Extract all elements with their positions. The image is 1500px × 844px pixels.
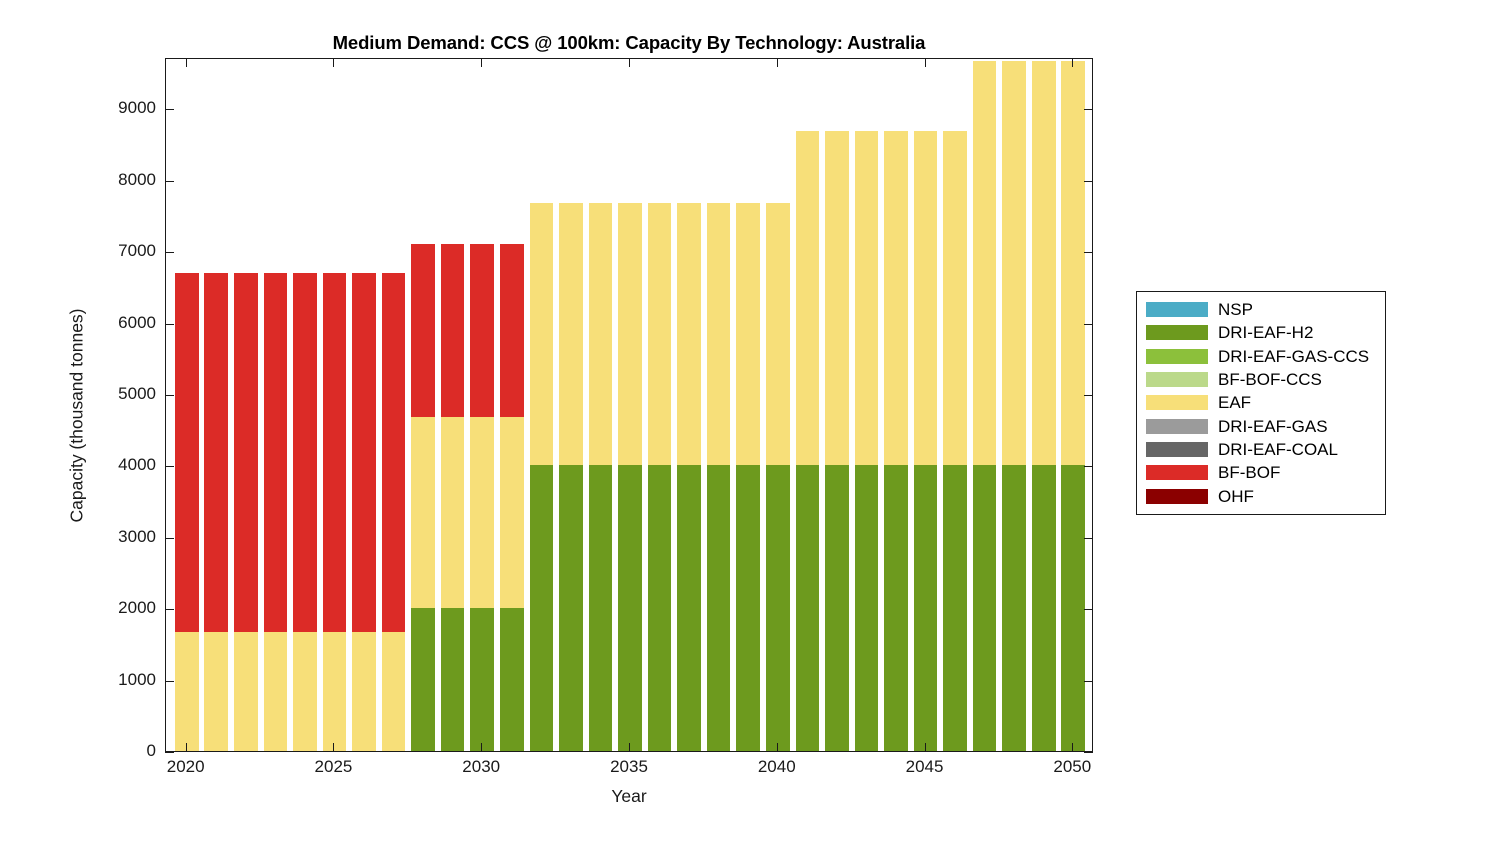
bar-segment-dri-eaf-h2[interactable]: [884, 465, 908, 751]
y-axis-tick: [165, 681, 174, 682]
x-axis-tick-top: [186, 58, 187, 67]
y-axis-tick: [165, 252, 174, 253]
bar-2050[interactable]: [1061, 59, 1085, 751]
bar-segment-dri-eaf-h2[interactable]: [973, 465, 997, 751]
bar-segment-eaf[interactable]: [973, 61, 997, 466]
y-axis-label: 8000: [56, 170, 156, 190]
legend-item-dri-eaf-gas[interactable]: DRI-EAF-GAS: [1137, 414, 1385, 437]
bar-segment-dri-eaf-h2[interactable]: [914, 465, 938, 751]
bar-segment-eaf[interactable]: [1032, 61, 1056, 466]
legend-swatch-icon: [1146, 325, 1208, 340]
bar-segment-dri-eaf-h2[interactable]: [441, 608, 465, 751]
legend-swatch-icon: [1146, 302, 1208, 317]
legend-swatch-icon: [1146, 372, 1208, 387]
bar-2020[interactable]: [175, 59, 199, 751]
bar-segment-bf-bof[interactable]: [323, 273, 347, 632]
bar-2045[interactable]: [914, 59, 938, 751]
x-axis-tick-top: [925, 58, 926, 67]
bar-segment-bf-bof[interactable]: [382, 273, 406, 632]
bar-segment-bf-bof[interactable]: [264, 273, 288, 632]
bar-2033[interactable]: [559, 59, 583, 751]
x-axis-label: 2025: [288, 757, 378, 777]
y-axis-tick-right: [1084, 181, 1093, 182]
bar-segment-dri-eaf-h2[interactable]: [943, 465, 967, 751]
bar-2042[interactable]: [825, 59, 849, 751]
bar-2027[interactable]: [382, 59, 406, 751]
legend-item-bf-bof-ccs[interactable]: BF-BOF-CCS: [1137, 368, 1385, 391]
bar-segment-dri-eaf-h2[interactable]: [559, 465, 583, 751]
bar-2026[interactable]: [352, 59, 376, 751]
bar-2025[interactable]: [323, 59, 347, 751]
legend-label: DRI-EAF-GAS: [1218, 418, 1328, 435]
bar-segment-eaf[interactable]: [589, 203, 613, 465]
y-axis-tick-right: [1084, 466, 1093, 467]
legend-label: DRI-EAF-COAL: [1218, 441, 1338, 458]
bar-2031[interactable]: [500, 59, 524, 751]
bar-segment-dri-eaf-h2[interactable]: [707, 465, 731, 751]
x-axis-tick-top: [1072, 58, 1073, 67]
bar-segment-eaf[interactable]: [411, 417, 435, 608]
bar-segment-eaf[interactable]: [500, 417, 524, 608]
bar-segment-dri-eaf-h2[interactable]: [736, 465, 760, 751]
legend-item-dri-eaf-coal[interactable]: DRI-EAF-COAL: [1137, 438, 1385, 461]
x-axis-tick-top: [629, 58, 630, 67]
legend-label: EAF: [1218, 394, 1251, 411]
bar-segment-dri-eaf-h2[interactable]: [589, 465, 613, 751]
bar-2035[interactable]: [618, 59, 642, 751]
bar-segment-eaf[interactable]: [293, 632, 317, 751]
y-axis-label: 9000: [56, 98, 156, 118]
bar-segment-eaf[interactable]: [618, 203, 642, 465]
bar-2049[interactable]: [1032, 59, 1056, 751]
bar-segment-eaf[interactable]: [382, 632, 406, 751]
y-axis-tick-right: [1084, 395, 1093, 396]
bar-segment-eaf[interactable]: [943, 131, 967, 464]
x-axis-tick-top: [777, 58, 778, 67]
bar-segment-eaf[interactable]: [825, 131, 849, 464]
bar-segment-eaf[interactable]: [1061, 61, 1085, 466]
x-axis-tick: [629, 743, 630, 752]
bar-segment-eaf[interactable]: [796, 131, 820, 464]
bar-segment-bf-bof[interactable]: [470, 244, 494, 417]
bar-segment-dri-eaf-h2[interactable]: [530, 465, 554, 751]
bar-2047[interactable]: [973, 59, 997, 751]
y-axis-tick: [165, 181, 174, 182]
x-axis-tick: [1072, 743, 1073, 752]
bar-2030[interactable]: [470, 59, 494, 751]
bar-2022[interactable]: [234, 59, 258, 751]
plot-box: [165, 58, 1093, 752]
bar-segment-dri-eaf-h2[interactable]: [648, 465, 672, 751]
y-axis-label: 2000: [56, 598, 156, 618]
legend-item-dri-eaf-gas-ccs[interactable]: DRI-EAF-GAS-CCS: [1137, 345, 1385, 368]
x-axis-label: 2050: [1027, 757, 1117, 777]
chart-title: Medium Demand: CCS @ 100km: Capacity By …: [165, 32, 1093, 54]
y-axis-tick: [165, 395, 174, 396]
legend-label: DRI-EAF-H2: [1218, 324, 1313, 341]
bar-2038[interactable]: [707, 59, 731, 751]
legend-item-ohf[interactable]: OHF: [1137, 484, 1385, 507]
bar-segment-dri-eaf-h2[interactable]: [796, 465, 820, 751]
bar-segment-eaf[interactable]: [441, 417, 465, 608]
bar-segment-eaf[interactable]: [1002, 61, 1026, 466]
bar-segment-bf-bof[interactable]: [293, 273, 317, 632]
y-axis-tick: [165, 752, 174, 753]
bar-segment-eaf[interactable]: [323, 632, 347, 751]
legend-item-dri-eaf-h2[interactable]: DRI-EAF-H2: [1137, 321, 1385, 344]
legend-item-nsp[interactable]: NSP: [1137, 298, 1385, 321]
x-axis-tick: [481, 743, 482, 752]
bar-2043[interactable]: [855, 59, 879, 751]
y-axis-tick: [165, 324, 174, 325]
bar-segment-eaf[interactable]: [470, 417, 494, 608]
bar-segment-eaf[interactable]: [559, 203, 583, 465]
bar-segment-dri-eaf-h2[interactable]: [677, 465, 701, 751]
bar-segment-bf-bof[interactable]: [411, 244, 435, 417]
x-axis-title: Year: [165, 786, 1093, 807]
bar-segment-eaf[interactable]: [352, 632, 376, 751]
x-axis-tick: [925, 743, 926, 752]
y-axis-label: 3000: [56, 527, 156, 547]
bar-segment-dri-eaf-h2[interactable]: [766, 465, 790, 751]
legend-label: BF-BOF-CCS: [1218, 371, 1322, 388]
bar-segment-eaf[interactable]: [766, 203, 790, 465]
bar-segment-eaf[interactable]: [175, 632, 199, 751]
bar-segment-eaf[interactable]: [707, 203, 731, 465]
bar-segment-eaf[interactable]: [204, 632, 228, 751]
bar-2028[interactable]: [411, 59, 435, 751]
x-axis-label: 2020: [141, 757, 231, 777]
legend-label: OHF: [1218, 488, 1254, 505]
legend-label: NSP: [1218, 301, 1253, 318]
bar-2039[interactable]: [736, 59, 760, 751]
chart-figure: Medium Demand: CCS @ 100km: Capacity By …: [0, 0, 1500, 844]
bar-segment-bf-bof[interactable]: [204, 273, 228, 632]
bar-segment-eaf[interactable]: [855, 131, 879, 464]
y-axis-tick: [165, 466, 174, 467]
x-axis-tick-top: [481, 58, 482, 67]
y-axis-label: 6000: [56, 313, 156, 333]
y-axis-label: 1000: [56, 670, 156, 690]
y-axis-tick: [165, 109, 174, 110]
y-axis-tick-right: [1084, 609, 1093, 610]
x-axis-tick: [777, 743, 778, 752]
y-axis-tick: [165, 538, 174, 539]
y-axis-label: 5000: [56, 384, 156, 404]
bar-segment-dri-eaf-h2[interactable]: [618, 465, 642, 751]
bar-segment-eaf[interactable]: [530, 203, 554, 465]
y-axis-tick-right: [1084, 752, 1093, 753]
bar-segment-eaf[interactable]: [884, 131, 908, 464]
legend-swatch-icon: [1146, 465, 1208, 480]
bar-2029[interactable]: [441, 59, 465, 751]
bar-2041[interactable]: [796, 59, 820, 751]
x-axis-tick-top: [333, 58, 334, 67]
x-axis-label: 2030: [436, 757, 526, 777]
bar-segment-eaf[interactable]: [914, 131, 938, 464]
bar-segment-eaf[interactable]: [234, 632, 258, 751]
bar-segment-bf-bof[interactable]: [500, 244, 524, 417]
legend-swatch-icon: [1146, 442, 1208, 457]
bar-2024[interactable]: [293, 59, 317, 751]
x-axis-label: 2035: [584, 757, 674, 777]
bar-segment-dri-eaf-h2[interactable]: [825, 465, 849, 751]
bar-segment-dri-eaf-h2[interactable]: [500, 608, 524, 751]
bar-segment-eaf[interactable]: [677, 203, 701, 465]
legend-item-bf-bof[interactable]: BF-BOF: [1137, 461, 1385, 484]
y-axis-tick-right: [1084, 252, 1093, 253]
x-axis-label: 2045: [880, 757, 970, 777]
legend-item-eaf[interactable]: EAF: [1137, 391, 1385, 414]
legend-swatch-icon: [1146, 489, 1208, 504]
y-axis-label: 4000: [56, 455, 156, 475]
bar-2040[interactable]: [766, 59, 790, 751]
bar-2036[interactable]: [648, 59, 672, 751]
bar-segment-eaf[interactable]: [736, 203, 760, 465]
y-axis-tick-right: [1084, 109, 1093, 110]
chart-legend: NSPDRI-EAF-H2DRI-EAF-GAS-CCSBF-BOF-CCSEA…: [1136, 291, 1386, 515]
bar-segment-eaf[interactable]: [648, 203, 672, 465]
x-axis-tick: [333, 743, 334, 752]
bar-2046[interactable]: [943, 59, 967, 751]
bar-segment-dri-eaf-h2[interactable]: [1032, 465, 1056, 751]
bar-2021[interactable]: [204, 59, 228, 751]
bar-segment-dri-eaf-h2[interactable]: [855, 465, 879, 751]
legend-swatch-icon: [1146, 349, 1208, 364]
bar-segment-dri-eaf-h2[interactable]: [411, 608, 435, 751]
bar-2048[interactable]: [1002, 59, 1026, 751]
bar-2034[interactable]: [589, 59, 613, 751]
bar-2032[interactable]: [530, 59, 554, 751]
bar-segment-bf-bof[interactable]: [441, 244, 465, 417]
legend-label: BF-BOF: [1218, 464, 1280, 481]
bar-segment-dri-eaf-h2[interactable]: [1061, 465, 1085, 751]
bar-segment-bf-bof[interactable]: [234, 273, 258, 632]
bar-segment-bf-bof[interactable]: [352, 273, 376, 632]
y-axis-tick: [165, 609, 174, 610]
plot-area: [166, 59, 1092, 751]
legend-label: DRI-EAF-GAS-CCS: [1218, 348, 1369, 365]
x-axis-label: 2040: [732, 757, 822, 777]
bar-segment-bf-bof[interactable]: [175, 273, 199, 632]
y-axis-tick-right: [1084, 538, 1093, 539]
bar-segment-dri-eaf-h2[interactable]: [1002, 465, 1026, 751]
bar-2044[interactable]: [884, 59, 908, 751]
bar-segment-eaf[interactable]: [264, 632, 288, 751]
legend-swatch-icon: [1146, 419, 1208, 434]
bar-2023[interactable]: [264, 59, 288, 751]
bar-2037[interactable]: [677, 59, 701, 751]
bar-segment-dri-eaf-h2[interactable]: [470, 608, 494, 751]
y-axis-tick-right: [1084, 324, 1093, 325]
y-axis-label: 7000: [56, 241, 156, 261]
x-axis-tick: [186, 743, 187, 752]
y-axis-tick-right: [1084, 681, 1093, 682]
legend-swatch-icon: [1146, 395, 1208, 410]
